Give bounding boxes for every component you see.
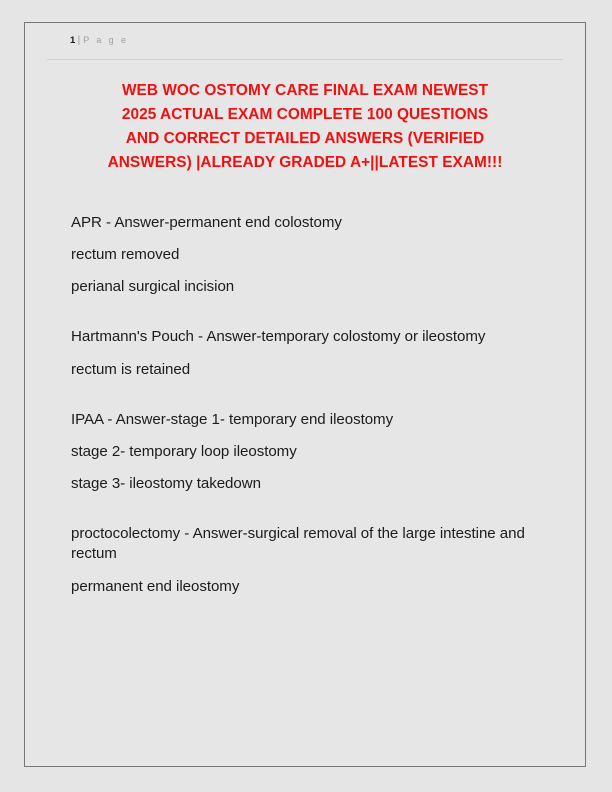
- header-page-label: P a g e: [83, 35, 128, 45]
- header-divider: [47, 59, 563, 60]
- qa-term-line: proctocolectomy - Answer-surgical remova…: [71, 524, 537, 564]
- qa-detail-line: perianal surgical incision: [71, 277, 537, 296]
- page-content: 1 | P a g e WEB WOC OSTOMY CARE FINAL EX…: [25, 23, 585, 766]
- qa-detail-line: permanent end ileostomy: [71, 577, 537, 596]
- qa-term-line: Hartmann's Pouch - Answer-temporary colo…: [71, 327, 537, 347]
- title-line-3: AND CORRECT DETAILED ANSWERS (VERIFIED: [49, 127, 561, 151]
- document-title: WEB WOC OSTOMY CARE FINAL EXAM NEWEST 20…: [47, 79, 563, 175]
- document-body: APR - Answer-permanent end colostomy rec…: [47, 213, 563, 596]
- title-line-4: ANSWERS) |ALREADY GRADED A+||LATEST EXAM…: [49, 151, 561, 175]
- header-separator: |: [78, 35, 81, 46]
- qa-detail-line: rectum removed: [71, 245, 537, 264]
- page-number: 1: [70, 35, 76, 46]
- qa-term-line: IPAA - Answer-stage 1- temporary end ile…: [71, 410, 537, 429]
- title-line-1: WEB WOC OSTOMY CARE FINAL EXAM NEWEST: [49, 79, 561, 103]
- qa-block: APR - Answer-permanent end colostomy rec…: [71, 213, 537, 296]
- qa-term-line: APR - Answer-permanent end colostomy: [71, 213, 537, 232]
- qa-detail-line: stage 2- temporary loop ileostomy: [71, 442, 537, 461]
- qa-detail-line: stage 3- ileostomy takedown: [71, 474, 537, 493]
- qa-block: IPAA - Answer-stage 1- temporary end ile…: [71, 410, 537, 493]
- title-line-2: 2025 ACTUAL EXAM COMPLETE 100 QUESTIONS: [49, 103, 561, 127]
- document-page: 1 | P a g e WEB WOC OSTOMY CARE FINAL EX…: [24, 22, 586, 767]
- qa-detail-line: rectum is retained: [71, 360, 537, 379]
- qa-block: proctocolectomy - Answer-surgical remova…: [71, 524, 537, 596]
- running-header: 1 | P a g e: [47, 35, 563, 53]
- qa-block: Hartmann's Pouch - Answer-temporary colo…: [71, 327, 537, 379]
